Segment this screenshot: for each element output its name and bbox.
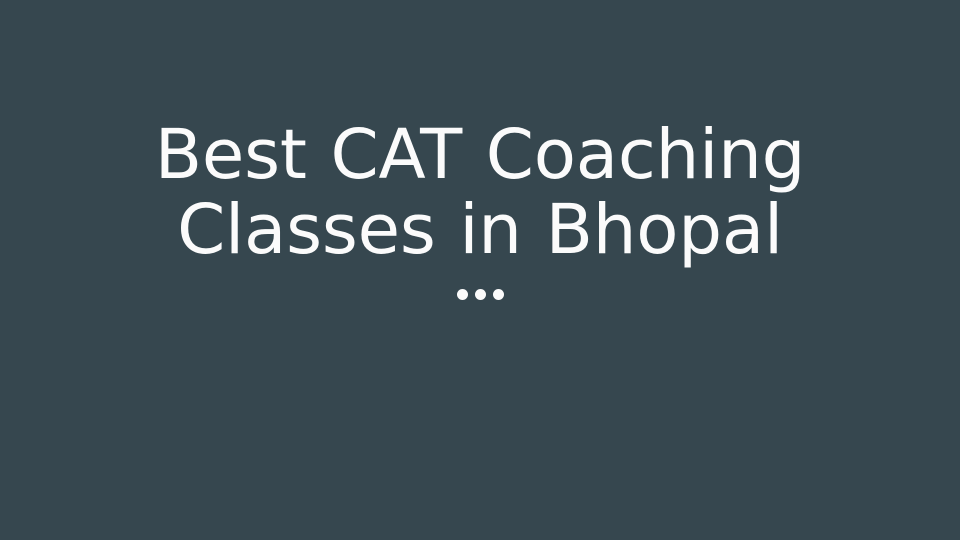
presentation-slide: Best CAT Coaching Classes in Bhopal — [0, 0, 960, 540]
slide-subtitle-dots — [457, 286, 504, 302]
slide-title: Best CAT Coaching Classes in Bhopal — [130, 118, 830, 268]
slide-content-block: Best CAT Coaching Classes in Bhopal — [0, 0, 960, 302]
subtitle-dot-3 — [493, 289, 504, 300]
subtitle-dot-1 — [457, 289, 468, 300]
subtitle-dot-2 — [475, 289, 486, 300]
